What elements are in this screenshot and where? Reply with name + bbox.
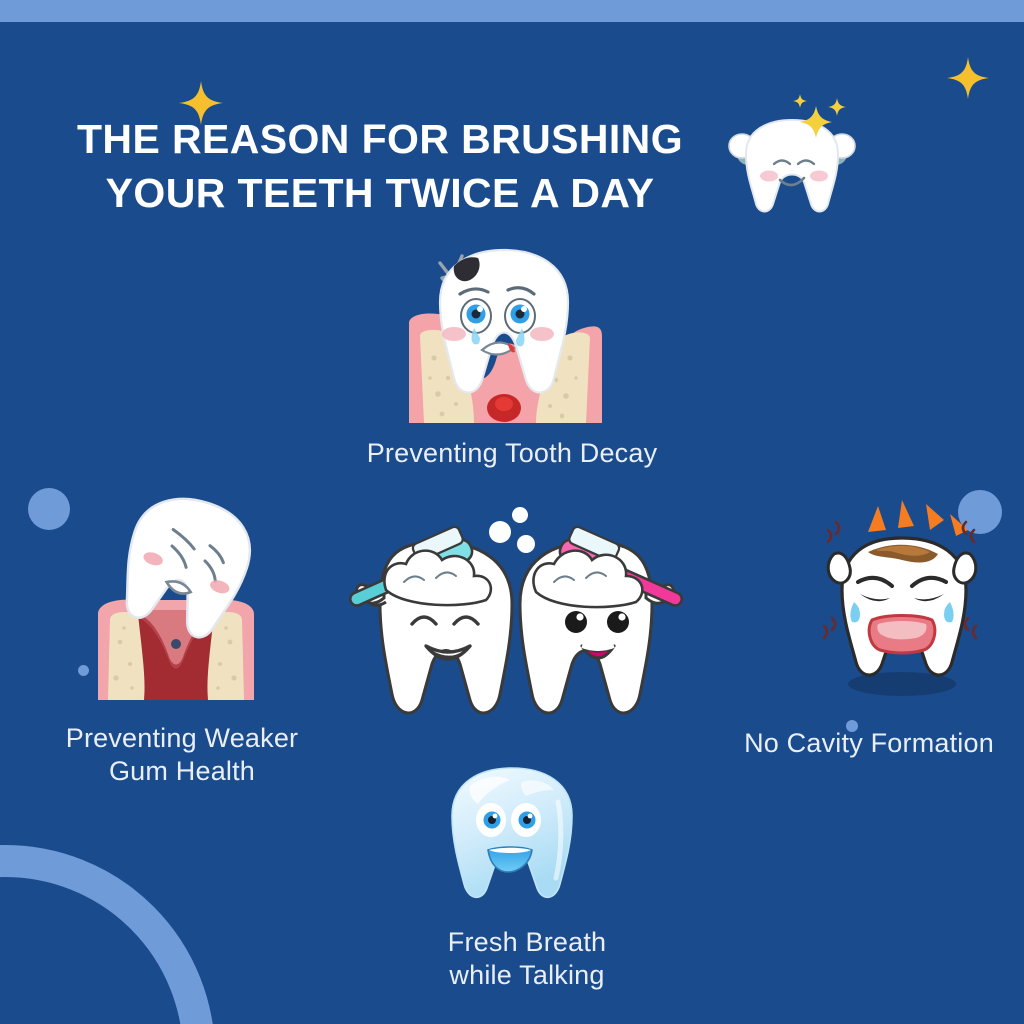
page-title: THE REASON FOR BRUSHING YOUR TEETH TWICE… [0, 112, 760, 220]
four-point-star-icon [946, 56, 990, 100]
benefit-caption-cavity: No Cavity Formation [714, 727, 1024, 760]
benefit-caption-gum-health: Preventing Weaker Gum Health [12, 722, 352, 788]
title-line-2: YOUR TEETH TWICE A DAY [0, 166, 760, 220]
crying-angry-tooth-icon [806, 490, 992, 698]
decorative-circle-left [28, 488, 70, 530]
falling-tooth-empty-socket-icon [84, 492, 266, 700]
sad-decayed-tooth-in-gum-icon [404, 228, 604, 423]
poster-canvas: THE REASON FOR BRUSHING YOUR TEETH TWICE… [0, 0, 1024, 1024]
benefit-caption-fresh-breath: Fresh Breath while Talking [392, 926, 662, 992]
benefit-caption-tooth-decay: Preventing Tooth Decay [262, 437, 762, 470]
icy-blue-smiling-tooth-icon [444, 762, 580, 910]
top-accent-strip [0, 0, 1024, 22]
title-line-1: THE REASON FOR BRUSHING [0, 112, 760, 166]
two-happy-teeth-brushing-icon [330, 498, 702, 732]
decorative-corner-arc [0, 845, 215, 1024]
